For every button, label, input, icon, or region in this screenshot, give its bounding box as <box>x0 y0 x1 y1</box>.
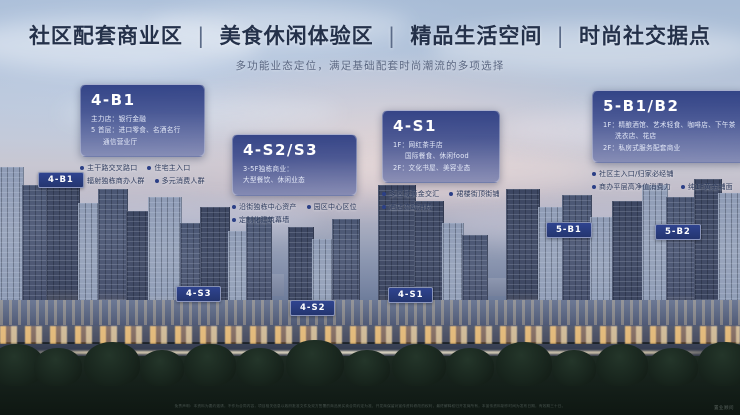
tree <box>698 342 740 386</box>
info-card-4-s1[interactable]: 4-S1 1F：网红茶手店 国际餐食、休闲food 2F：文化书屋、美容业态 多… <box>382 110 500 212</box>
card-bullets: 沿街独栋中心资产 园区中心区位 定制化建筑幕墙 <box>232 202 357 225</box>
tree <box>344 350 390 386</box>
bullet-item: 社区主入口/归家必经铺 <box>592 169 674 179</box>
card-line: 1F：精酿酒馆、艺术轻食、咖啡店、下午茶 <box>603 120 736 132</box>
title-part-4: 时尚社交据点 <box>579 24 711 48</box>
tree <box>552 350 596 386</box>
tree <box>648 348 698 386</box>
card-bullets: 主干路交叉路口 住宅主入口 辐射独栋商办人群 多元消费人群 <box>80 163 205 186</box>
card-body: 4-S1 1F：网红茶手店 国际餐食、休闲food 2F：文化书屋、美容业态 <box>382 110 500 183</box>
tree <box>140 350 184 386</box>
card-line: 2F：文化书屋、美容业态 <box>393 163 489 175</box>
tree <box>596 344 648 386</box>
legal-disclaimer: 免责声明：本资料为要约邀请，不作为合同内容，项目相关信息以政府批准文件及双方签署… <box>0 404 740 409</box>
title-part-2: 美食休闲体验区 <box>220 24 374 48</box>
building-tag-5-b2[interactable]: 5-B2 <box>655 224 701 240</box>
tree <box>446 348 494 386</box>
card-line: 主力店：银行金融 <box>91 114 194 126</box>
marketing-render: 社区配套商业区 | 美食休闲体验区 | 精品生活空间 | 时尚社交据点 多功能业… <box>0 0 740 415</box>
tree <box>184 344 236 386</box>
tree <box>496 342 552 386</box>
bullet-row: 定制化建筑幕墙 <box>232 215 357 225</box>
bullet-item: 辐射独栋商办人群 <box>80 176 145 186</box>
building-tag-4-s1[interactable]: 4-S1 <box>388 287 433 303</box>
bullet-item: 主干路交叉路口 <box>80 163 137 173</box>
card-body: 4-B1 主力店：银行金融 5 首层：进口零食、名酒名行 通信营业厅 <box>80 84 205 157</box>
card-line: 洗衣店、花店 <box>603 131 736 143</box>
bullet-item: 纯1F黄金铺面 <box>681 182 733 192</box>
bullet-item: 沿街独栋中心资产 <box>232 202 297 212</box>
bullet-row: 沿街独栋中心资产 园区中心区位 <box>232 202 357 212</box>
bullet-item: 多元消费人群 <box>155 176 205 186</box>
building-tag-4-s2[interactable]: 4-S2 <box>290 300 335 316</box>
bullet-row: 酒店流动消费 <box>382 202 500 212</box>
card-body: 4-S2/S3 3-5F独栋商业： 大型餐饮、休闲业态 <box>232 134 357 196</box>
title-separator: | <box>197 24 205 48</box>
card-line: 1F：网红茶手店 <box>393 140 489 152</box>
title-separator: | <box>557 24 565 48</box>
card-line: 5 首层：进口零食、名酒名行 <box>91 125 194 137</box>
card-body: 5-B1/B2 1F：精酿酒馆、艺术轻食、咖啡店、下午茶 洗衣店、花店 2F：私… <box>592 90 740 163</box>
bullet-row: 社区主入口/归家必经铺 <box>592 169 740 179</box>
tree <box>84 342 140 386</box>
card-bullets: 多区域黄金交汇 裙楼街顶街铺 酒店流动消费 <box>382 189 500 212</box>
bullet-row: 辐射独栋商办人群 多元消费人群 <box>80 176 205 186</box>
tree <box>236 348 284 386</box>
tree <box>392 344 446 386</box>
card-title: 4-S1 <box>393 118 489 135</box>
card-description: 3-5F独栋商业： 大型餐饮、休闲业态 <box>243 164 346 187</box>
card-line: 2F：私房式服务配套商业 <box>603 143 736 155</box>
card-description: 主力店：银行金融 5 首层：进口零食、名酒名行 通信营业厅 <box>91 114 194 149</box>
bullet-item: 园区中心区位 <box>307 202 357 212</box>
card-description: 1F：精酿酒馆、艺术轻食、咖啡店、下午茶 洗衣店、花店 2F：私房式服务配套商业 <box>603 120 736 155</box>
page-subtitle: 多功能业态定位，满足基础配套时尚潮流的多项选择 <box>0 58 740 73</box>
info-card-4-s2-s3[interactable]: 4-S2/S3 3-5F独栋商业： 大型餐饮、休闲业态 沿街独栋中心资产 园区中… <box>232 134 357 225</box>
building-tag-5-b1[interactable]: 5-B1 <box>546 222 592 238</box>
tree <box>34 348 82 386</box>
brand-mark: 置业顾问 <box>714 405 734 411</box>
bullet-row: 多区域黄金交汇 裙楼街顶街铺 <box>382 189 500 199</box>
info-card-4-b1[interactable]: 4-B1 主力店：银行金融 5 首层：进口零食、名酒名行 通信营业厅 主干路交叉… <box>80 84 205 186</box>
card-title: 4-B1 <box>91 92 194 109</box>
bullet-item: 酒店流动消费 <box>382 202 432 212</box>
bullet-item: 定制化建筑幕墙 <box>232 215 289 225</box>
info-card-5-b1-b2[interactable]: 5-B1/B2 1F：精酿酒馆、艺术轻食、咖啡店、下午茶 洗衣店、花店 2F：私… <box>592 90 740 192</box>
bullet-item: 商办平层高净值消费力 <box>592 182 671 192</box>
bullet-item: 裙楼街顶街铺 <box>449 189 499 199</box>
card-line: 大型餐饮、休闲业态 <box>243 175 346 187</box>
card-bullets: 社区主入口/归家必经铺 商办平层高净值消费力 纯1F黄金铺面 <box>592 169 740 192</box>
card-line: 3-5F独栋商业： <box>243 164 346 176</box>
card-title: 5-B1/B2 <box>603 98 736 115</box>
card-description: 1F：网红茶手店 国际餐食、休闲food 2F：文化书屋、美容业态 <box>393 140 489 175</box>
card-line: 通信营业厅 <box>91 137 194 149</box>
bullet-row: 主干路交叉路口 住宅主入口 <box>80 163 205 173</box>
title-part-1: 社区配套商业区 <box>29 24 183 48</box>
building-tag-4-b1[interactable]: 4-B1 <box>38 172 84 188</box>
card-title: 4-S2/S3 <box>243 142 346 159</box>
bullet-row: 商办平层高净值消费力 纯1F黄金铺面 <box>592 182 740 192</box>
bullet-item: 住宅主入口 <box>147 163 190 173</box>
bullet-item: 多区域黄金交汇 <box>382 189 439 199</box>
card-line: 国际餐食、休闲food <box>393 151 489 163</box>
title-separator: | <box>388 24 396 48</box>
building-tag-4-s3[interactable]: 4-S3 <box>176 286 221 302</box>
tree <box>286 340 344 386</box>
title-part-3: 精品生活空间 <box>410 24 542 48</box>
page-title: 社区配套商业区 | 美食休闲体验区 | 精品生活空间 | 时尚社交据点 <box>0 20 740 50</box>
